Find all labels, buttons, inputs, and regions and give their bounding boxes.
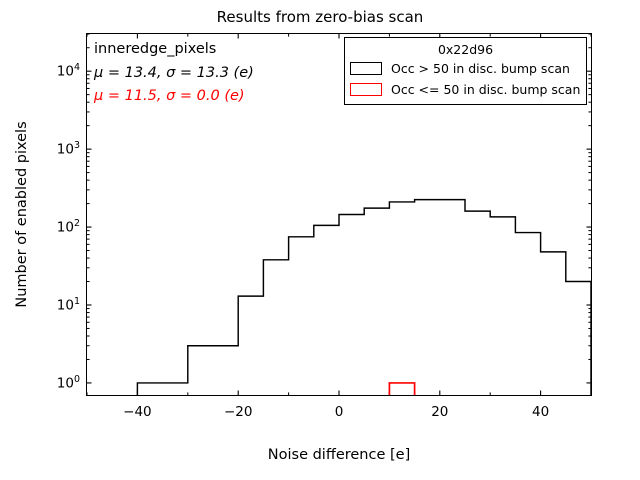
legend-entry[interactable]: Occ <= 50 in disc. bump scan (350, 79, 581, 100)
legend-swatch-icon (350, 83, 382, 96)
legend-entry-label: Occ <= 50 in disc. bump scan (391, 82, 580, 97)
stats-red-text: μ = 11.5, σ = 0.0 (e) (94, 85, 344, 109)
stats-annotation: inneredge_pixels μ = 13.4, σ = 13.3 (e) … (94, 38, 344, 109)
y-tick-mantissa: 10 (57, 142, 74, 158)
y-axis-label: Number of enabled pixels (14, 33, 34, 396)
x-tick-label: 20 (410, 404, 470, 420)
legend-entry-label: Occ > 50 in disc. bump scan (391, 61, 570, 76)
x-axis-label: Noise difference [e] (86, 447, 592, 463)
figure: Results from zero-bias scan Number of en… (0, 0, 640, 480)
legend-entries: Occ > 50 in disc. bump scanOcc <= 50 in … (350, 58, 581, 100)
y-tick-exponent: 0 (74, 374, 80, 385)
y-tick-exponent: 1 (74, 296, 80, 307)
histogram-steps (137, 200, 591, 395)
y-tick-label: 103 (24, 140, 80, 158)
chart-title: Results from zero-bias scan (0, 8, 640, 26)
y-tick-label: 100 (24, 374, 80, 392)
y-tick-mantissa: 10 (57, 64, 74, 80)
stats-black-text: μ = 13.4, σ = 13.3 (e) (94, 62, 344, 86)
y-axis-label-wrapper: Number of enabled pixels (8, 33, 28, 396)
y-tick-exponent: 3 (74, 140, 80, 151)
legend-title: 0x22d96 (350, 41, 581, 58)
x-tick-label: −20 (208, 404, 268, 420)
y-tick-mantissa: 10 (57, 220, 74, 236)
legend-box: 0x22d96 Occ > 50 in disc. bump scanOcc <… (344, 37, 587, 105)
y-tick-mantissa: 10 (57, 297, 74, 313)
y-tick-exponent: 2 (74, 218, 80, 229)
y-tick-exponent: 4 (74, 62, 80, 73)
legend-entry[interactable]: Occ > 50 in disc. bump scan (350, 58, 581, 79)
y-tick-mantissa: 10 (57, 375, 74, 391)
x-tick-label: −40 (107, 404, 167, 420)
hist-step-primary (137, 200, 591, 395)
dataset-label: inneredge_pixels (94, 38, 344, 62)
legend-swatch-icon (350, 62, 382, 75)
x-tick-label: 0 (309, 404, 369, 420)
y-tick-label: 101 (24, 296, 80, 314)
hist-step-secondary (389, 383, 414, 395)
y-tick-label: 102 (24, 218, 80, 236)
y-tick-label: 104 (24, 62, 80, 80)
x-tick-label: 40 (511, 404, 571, 420)
